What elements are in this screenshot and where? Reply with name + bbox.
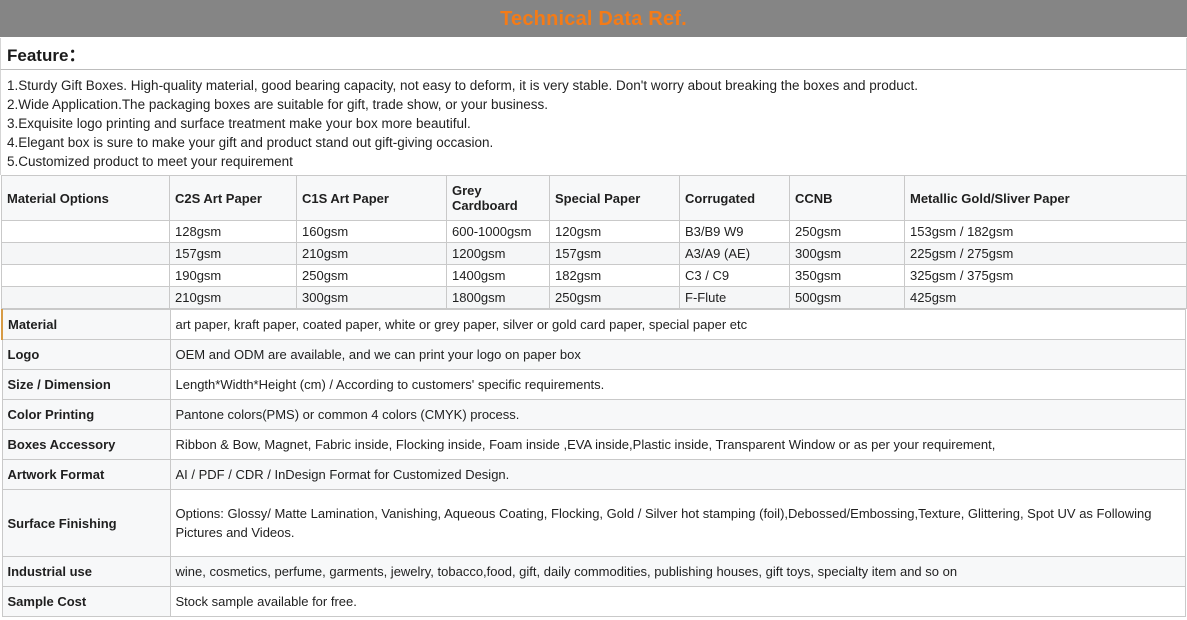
cell-ccnb: 350gsm [790, 265, 905, 287]
spec-row-logo: Logo OEM and ODM are available, and we c… [2, 340, 1186, 370]
feature-list: 1.Sturdy Gift Boxes. High-quality materi… [0, 70, 1187, 175]
feature-line: 5.Customized product to meet your requir… [7, 152, 1180, 171]
spec-label-sample-cost: Sample Cost [2, 587, 170, 617]
cell-special: 157gsm [550, 243, 680, 265]
spec-value-artwork-format: AI / PDF / CDR / InDesign Format for Cus… [170, 460, 1186, 490]
cell-special: 250gsm [550, 287, 680, 309]
cell-c2s: 210gsm [170, 287, 297, 309]
technical-data-sheet: Technical Data Ref. Feature： 1.Sturdy Gi… [0, 0, 1187, 620]
spec-label-surface-finishing: Surface Finishing [2, 490, 170, 557]
spec-label-artwork-format: Artwork Format [2, 460, 170, 490]
cell-c2s: 190gsm [170, 265, 297, 287]
cell-grey: 1400gsm [447, 265, 550, 287]
spec-row-size-dimension: Size / Dimension Length*Width*Height (cm… [2, 370, 1186, 400]
cell-corrugated: C3 / C9 [680, 265, 790, 287]
feature-line: 3.Exquisite logo printing and surface tr… [7, 114, 1180, 133]
feature-heading: Feature： [0, 38, 1187, 70]
cell-c2s: 157gsm [170, 243, 297, 265]
cell-metallic: 425gsm [905, 287, 1187, 309]
spec-label-material: Material [2, 310, 170, 340]
title-banner: Technical Data Ref. [0, 0, 1187, 38]
column-header-grey-cardboard: Grey Cardboard [447, 176, 550, 221]
cell-ccnb: 500gsm [790, 287, 905, 309]
spec-row-surface-finishing: Surface Finishing Options: Glossy/ Matte… [2, 490, 1186, 557]
cell-corrugated: B3/B9 W9 [680, 221, 790, 243]
table-row: 190gsm 250gsm 1400gsm 182gsm C3 / C9 350… [2, 265, 1187, 287]
cell-c1s: 250gsm [297, 265, 447, 287]
cell-c1s: 210gsm [297, 243, 447, 265]
spec-row-sample-cost: Sample Cost Stock sample available for f… [2, 587, 1186, 617]
spec-value-industrial-use: wine, cosmetics, perfume, garments, jewe… [170, 557, 1186, 587]
cell-metallic: 225gsm / 275gsm [905, 243, 1187, 265]
cell-material-options [2, 265, 170, 287]
cell-c1s: 300gsm [297, 287, 447, 309]
spec-value-boxes-accessory: Ribbon & Bow, Magnet, Fabric inside, Flo… [170, 430, 1186, 460]
table-row: 157gsm 210gsm 1200gsm 157gsm A3/A9 (AE) … [2, 243, 1187, 265]
spec-value-material: art paper, kraft paper, coated paper, wh… [170, 310, 1186, 340]
feature-line: 4.Elegant box is sure to make your gift … [7, 133, 1180, 152]
spec-row-artwork-format: Artwork Format AI / PDF / CDR / InDesign… [2, 460, 1186, 490]
table-row: 210gsm 300gsm 1800gsm 250gsm F-Flute 500… [2, 287, 1187, 309]
column-header-metallic-paper: Metallic Gold/Sliver Paper [905, 176, 1187, 221]
spec-label-color-printing: Color Printing [2, 400, 170, 430]
column-header-corrugated: Corrugated [680, 176, 790, 221]
cell-special: 182gsm [550, 265, 680, 287]
cell-metallic: 325gsm / 375gsm [905, 265, 1187, 287]
spec-value-color-printing: Pantone colors(PMS) or common 4 colors (… [170, 400, 1186, 430]
cell-special: 120gsm [550, 221, 680, 243]
cell-corrugated: F-Flute [680, 287, 790, 309]
cell-ccnb: 300gsm [790, 243, 905, 265]
spec-row-material: Material art paper, kraft paper, coated … [2, 310, 1186, 340]
cell-c1s: 160gsm [297, 221, 447, 243]
cell-c2s: 128gsm [170, 221, 297, 243]
column-header-special-paper: Special Paper [550, 176, 680, 221]
cell-material-options [2, 287, 170, 309]
feature-line: 1.Sturdy Gift Boxes. High-quality materi… [7, 76, 1180, 95]
spec-label-industrial-use: Industrial use [2, 557, 170, 587]
column-header-ccnb: CCNB [790, 176, 905, 221]
cell-grey: 1800gsm [447, 287, 550, 309]
spec-label-logo: Logo [2, 340, 170, 370]
cell-material-options [2, 221, 170, 243]
column-header-material-options: Material Options [2, 176, 170, 221]
page-title: Technical Data Ref. [500, 9, 687, 29]
cell-material-options [2, 243, 170, 265]
spec-label-size-dimension: Size / Dimension [2, 370, 170, 400]
spec-row-boxes-accessory: Boxes Accessory Ribbon & Bow, Magnet, Fa… [2, 430, 1186, 460]
spec-row-industrial-use: Industrial use wine, cosmetics, perfume,… [2, 557, 1186, 587]
column-header-c1s-art-paper: C1S Art Paper [297, 176, 447, 221]
spec-row-color-printing: Color Printing Pantone colors(PMS) or co… [2, 400, 1186, 430]
column-header-c2s-art-paper: C2S Art Paper [170, 176, 297, 221]
feature-heading-label: Feature： [7, 41, 85, 66]
cell-corrugated: A3/A9 (AE) [680, 243, 790, 265]
spec-value-size-dimension: Length*Width*Height (cm) / According to … [170, 370, 1186, 400]
spec-value-logo: OEM and ODM are available, and we can pr… [170, 340, 1186, 370]
table-row: 128gsm 160gsm 600-1000gsm 120gsm B3/B9 W… [2, 221, 1187, 243]
spec-label-boxes-accessory: Boxes Accessory [2, 430, 170, 460]
spec-value-sample-cost: Stock sample available for free. [170, 587, 1186, 617]
table-header-row: Material Options C2S Art Paper C1S Art P… [2, 176, 1187, 221]
materials-table: Material Options C2S Art Paper C1S Art P… [1, 175, 1187, 309]
feature-line: 2.Wide Application.The packaging boxes a… [7, 95, 1180, 114]
cell-metallic: 153gsm / 182gsm [905, 221, 1187, 243]
spec-value-surface-finishing: Options: Glossy/ Matte Lamination, Vanis… [170, 490, 1186, 557]
cell-grey: 600-1000gsm [447, 221, 550, 243]
specification-table: Material art paper, kraft paper, coated … [1, 309, 1186, 617]
cell-ccnb: 250gsm [790, 221, 905, 243]
cell-grey: 1200gsm [447, 243, 550, 265]
